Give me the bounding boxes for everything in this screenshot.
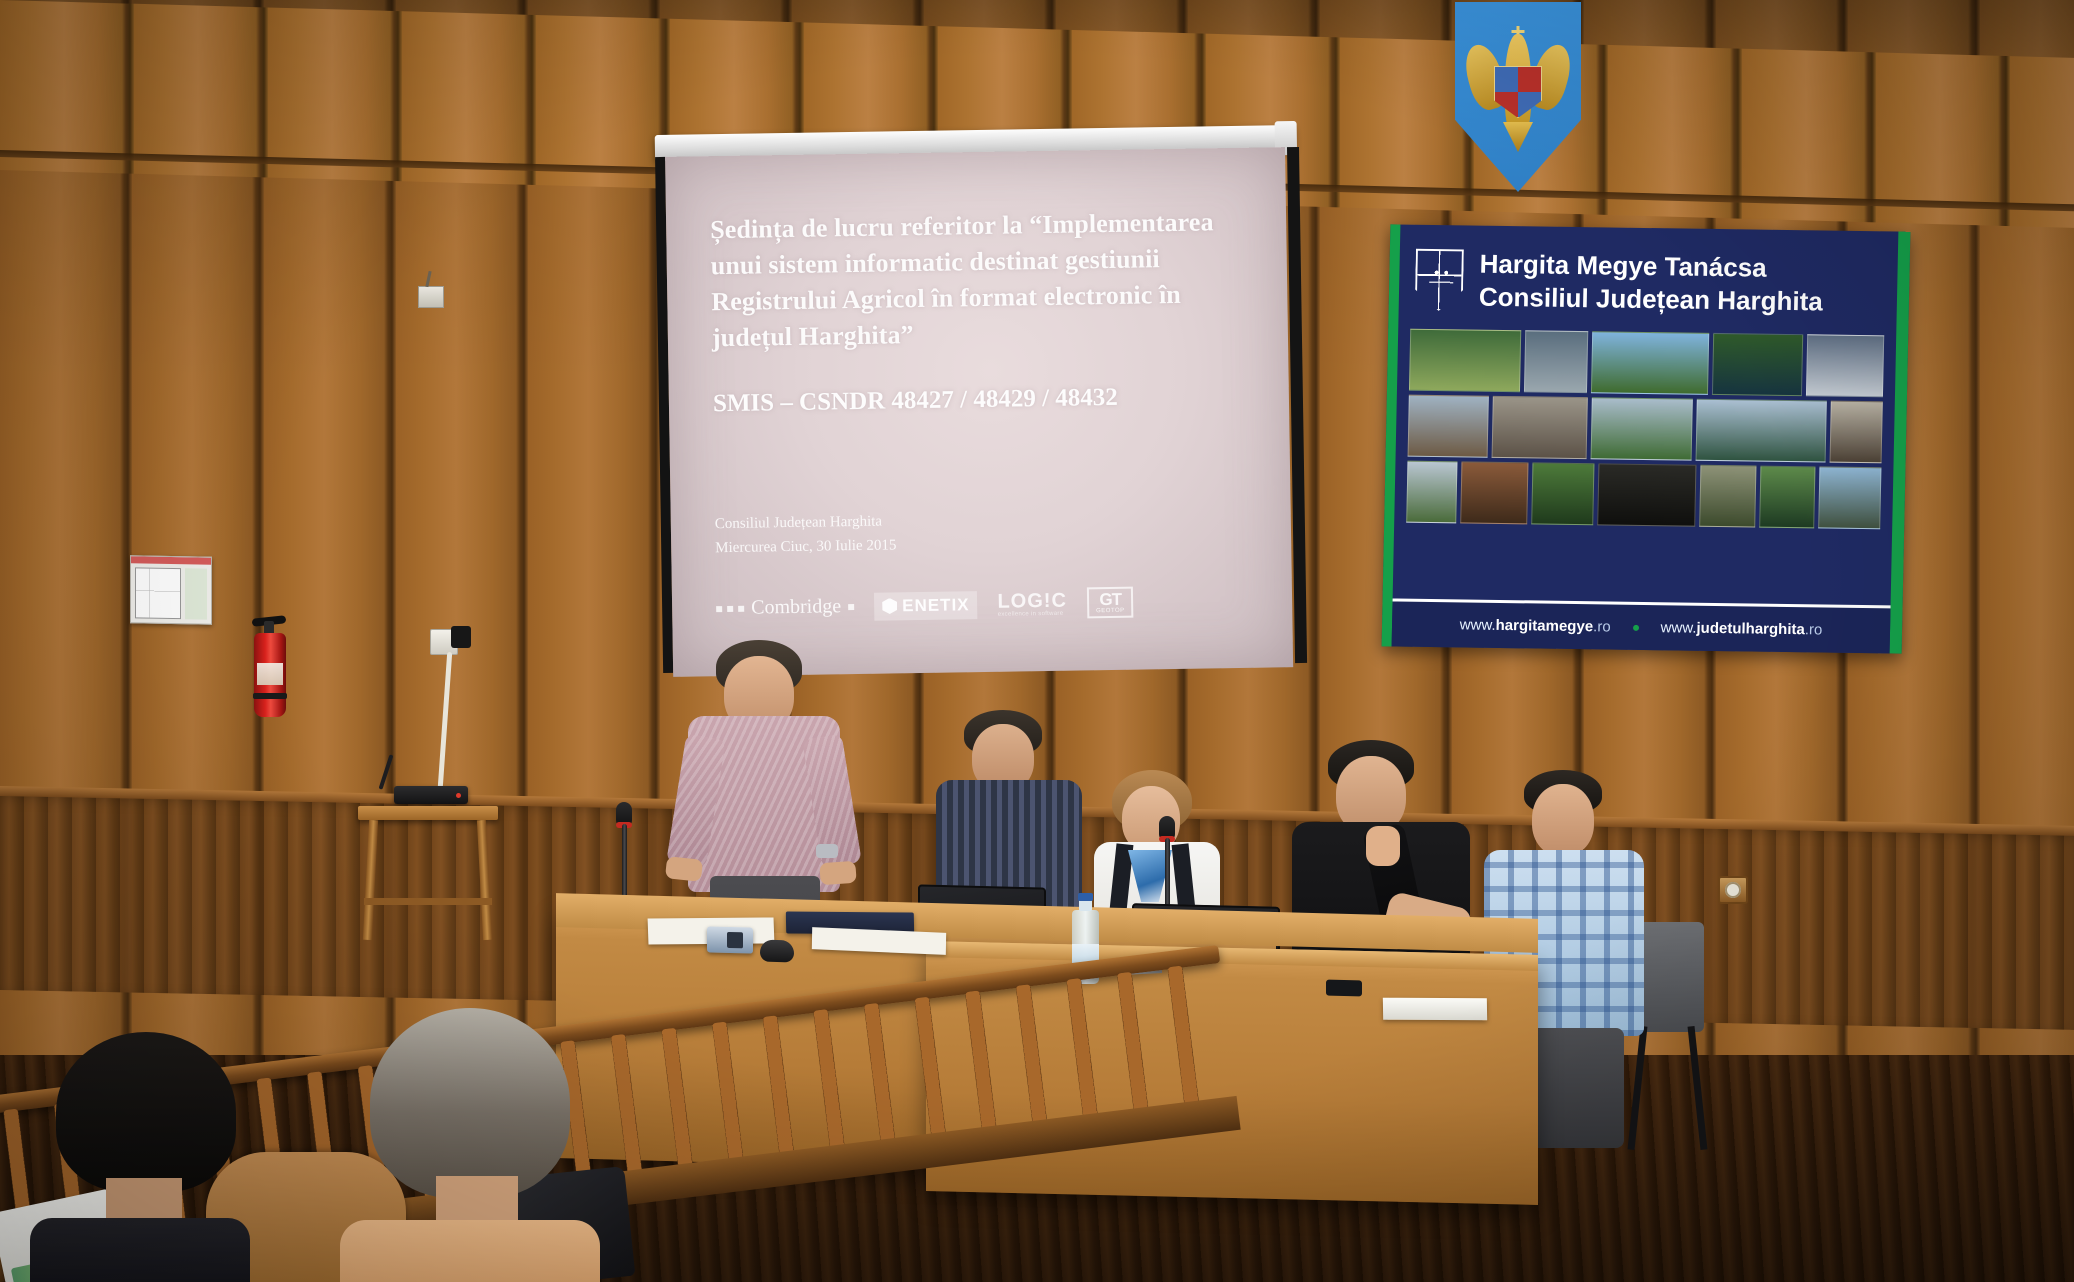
collage-row (1406, 460, 1881, 529)
audience1-top (30, 1218, 250, 1282)
collage-row (1408, 394, 1883, 463)
wireless-router-icon (394, 786, 468, 804)
collage-photo (1408, 394, 1490, 457)
harghita-county-banner: Hargita Megye Tanácsa Consiliul Județean… (1382, 224, 1911, 653)
stool-leg (477, 820, 492, 940)
banner-photo-collage (1394, 324, 1896, 533)
geotop-logo: GT GEOTOP (1087, 587, 1134, 619)
conference-room-photo: Ședința de lucru referitor la “Implement… (0, 0, 2074, 1282)
placard-header-bar (131, 556, 211, 564)
banner-url-hargitamegye[interactable]: www.hargitamegye.ro (1460, 616, 1611, 635)
slide-smis-code: SMIS – CSNDR 48427 / 48429 / 48432 (713, 381, 1245, 417)
url-prefix: www. (1460, 616, 1496, 633)
collage-row (1409, 328, 1884, 397)
collage-photo (1759, 465, 1816, 528)
slide-logo-row: Combridge ENETIX LOG!C excellence in sof… (716, 585, 1262, 625)
baluster (1016, 984, 1049, 1135)
projection-screen: Ședința de lucru referitor la “Implement… (661, 125, 1302, 685)
slide-footer: Consiliul Județean Harghita Miercurea Ci… (715, 509, 897, 560)
collage-photo (1524, 330, 1588, 393)
placard-legend (185, 568, 207, 619)
compact-camera (707, 926, 753, 953)
logic-wordmark: LOG!C (997, 589, 1067, 612)
collage-photo (1590, 397, 1693, 460)
collage-photo (1830, 400, 1883, 463)
extinguisher-strap (253, 693, 287, 699)
panelist3-hand-on-chin (1366, 826, 1400, 866)
presenter-hand-right (819, 861, 856, 885)
url-tld: .ro (1805, 621, 1823, 638)
url-prefix: www. (1660, 619, 1696, 636)
baluster (914, 997, 947, 1148)
url-separator-dot-icon (1633, 624, 1639, 630)
stool-top (358, 806, 498, 820)
baluster (813, 1009, 846, 1160)
collage-photo (1696, 398, 1827, 462)
coa-eagle (1470, 26, 1566, 146)
placard-body (131, 563, 211, 623)
placard-floorplan-map (135, 567, 181, 619)
baluster (1167, 966, 1200, 1117)
chair-leg (1688, 1026, 1708, 1150)
wooden-stool (358, 806, 498, 946)
power-plug-icon (451, 626, 471, 648)
baluster (661, 1028, 694, 1179)
slide-title-line: județul Harghita” (712, 311, 1244, 355)
baluster (864, 1003, 897, 1154)
combridge-tail-dot-icon (848, 604, 854, 610)
banner-url-judetulharghita[interactable]: www.judetulharghita.ro (1660, 619, 1822, 638)
logic-logo: LOG!C excellence in software (997, 590, 1067, 617)
audience2-hair (370, 1008, 570, 1198)
baluster (611, 1034, 644, 1185)
collage-photo (1406, 460, 1457, 523)
audience-member-2 (330, 1008, 600, 1282)
presenter-wristwatch (816, 844, 838, 858)
banner-title-romanian: Consiliul Județean Harghita (1479, 280, 1823, 318)
wall-socket-right-b (1718, 876, 1748, 904)
baluster (762, 1015, 795, 1166)
audience1-hair (56, 1032, 236, 1192)
audience2-top (340, 1220, 600, 1282)
slide-title: Ședința de lucru referitor la “Implement… (710, 204, 1244, 356)
enetix-hex-icon (882, 598, 897, 614)
url-domain: hargitamegye (1495, 617, 1593, 635)
baluster (965, 990, 998, 1141)
bottle-cap (1078, 893, 1093, 901)
collage-photo (1532, 462, 1595, 525)
collage-photo (1699, 464, 1756, 527)
coa-quartered-shield (1494, 66, 1542, 118)
fire-evacuation-plan-placard (130, 555, 212, 624)
banner-titles: Hargita Megye Tanácsa Consiliul Județean… (1479, 248, 1824, 318)
stool-rail (364, 898, 492, 905)
logic-tagline: excellence in software (998, 610, 1068, 617)
collage-photo (1460, 461, 1529, 524)
screen-surface: Ședința de lucru referitor la “Implement… (665, 147, 1293, 677)
collage-photo (1597, 463, 1696, 526)
banner-header: Hargita Megye Tanácsa Consiliul Județean… (1398, 225, 1898, 331)
mobile-phone (1326, 980, 1362, 997)
geotop-monogram: GT (1099, 591, 1121, 608)
baluster (1066, 978, 1099, 1129)
baluster (1117, 972, 1150, 1123)
collage-photo (1409, 328, 1521, 392)
collage-photo (1712, 332, 1804, 395)
projected-slide: Ședința de lucru referitor la “Implement… (665, 147, 1293, 677)
notebook (1383, 998, 1487, 1021)
fire-extinguisher-icon (250, 615, 290, 717)
combridge-dots-icon (716, 605, 744, 611)
slide-footer-place-date: Miercurea Ciuc, 30 Iulie 2015 (715, 533, 897, 560)
wall-power-socket (430, 629, 458, 655)
stool-leg (363, 820, 378, 940)
banner-title-hungarian: Hargita Megye Tanácsa (1479, 248, 1823, 286)
coa-eagle-tail (1503, 122, 1533, 152)
router-led-icon (456, 793, 461, 798)
geotop-wordmark: GEOTOP (1096, 608, 1125, 614)
presenter-hand-left (665, 856, 703, 882)
collage-photo (1492, 395, 1588, 458)
banner-footer-urls: www.hargitamegye.ro www.judetulharghita.… (1392, 598, 1891, 653)
audience-member-1 (10, 1032, 250, 1282)
collage-photo (1806, 334, 1884, 397)
combridge-logo: Combridge (716, 595, 854, 620)
harghita-shield-icon (1415, 249, 1464, 312)
url-domain: judetulharghita (1696, 620, 1805, 639)
collage-photo (1591, 331, 1710, 395)
combridge-wordmark: Combridge (751, 595, 841, 619)
wall-sensor-icon (418, 286, 444, 308)
enetix-logo: ENETIX (874, 591, 978, 621)
extinguisher-label (257, 663, 283, 685)
baluster (712, 1021, 745, 1172)
enetix-wordmark: ENETIX (902, 595, 970, 616)
banner-inner: Hargita Megye Tanácsa Consiliul Județean… (1382, 224, 1911, 653)
panelist4-head (1532, 784, 1594, 856)
slide-footer-organization: Consiliul Județean Harghita (715, 509, 897, 536)
url-tld: .ro (1593, 618, 1611, 635)
collage-photo (1818, 466, 1881, 529)
